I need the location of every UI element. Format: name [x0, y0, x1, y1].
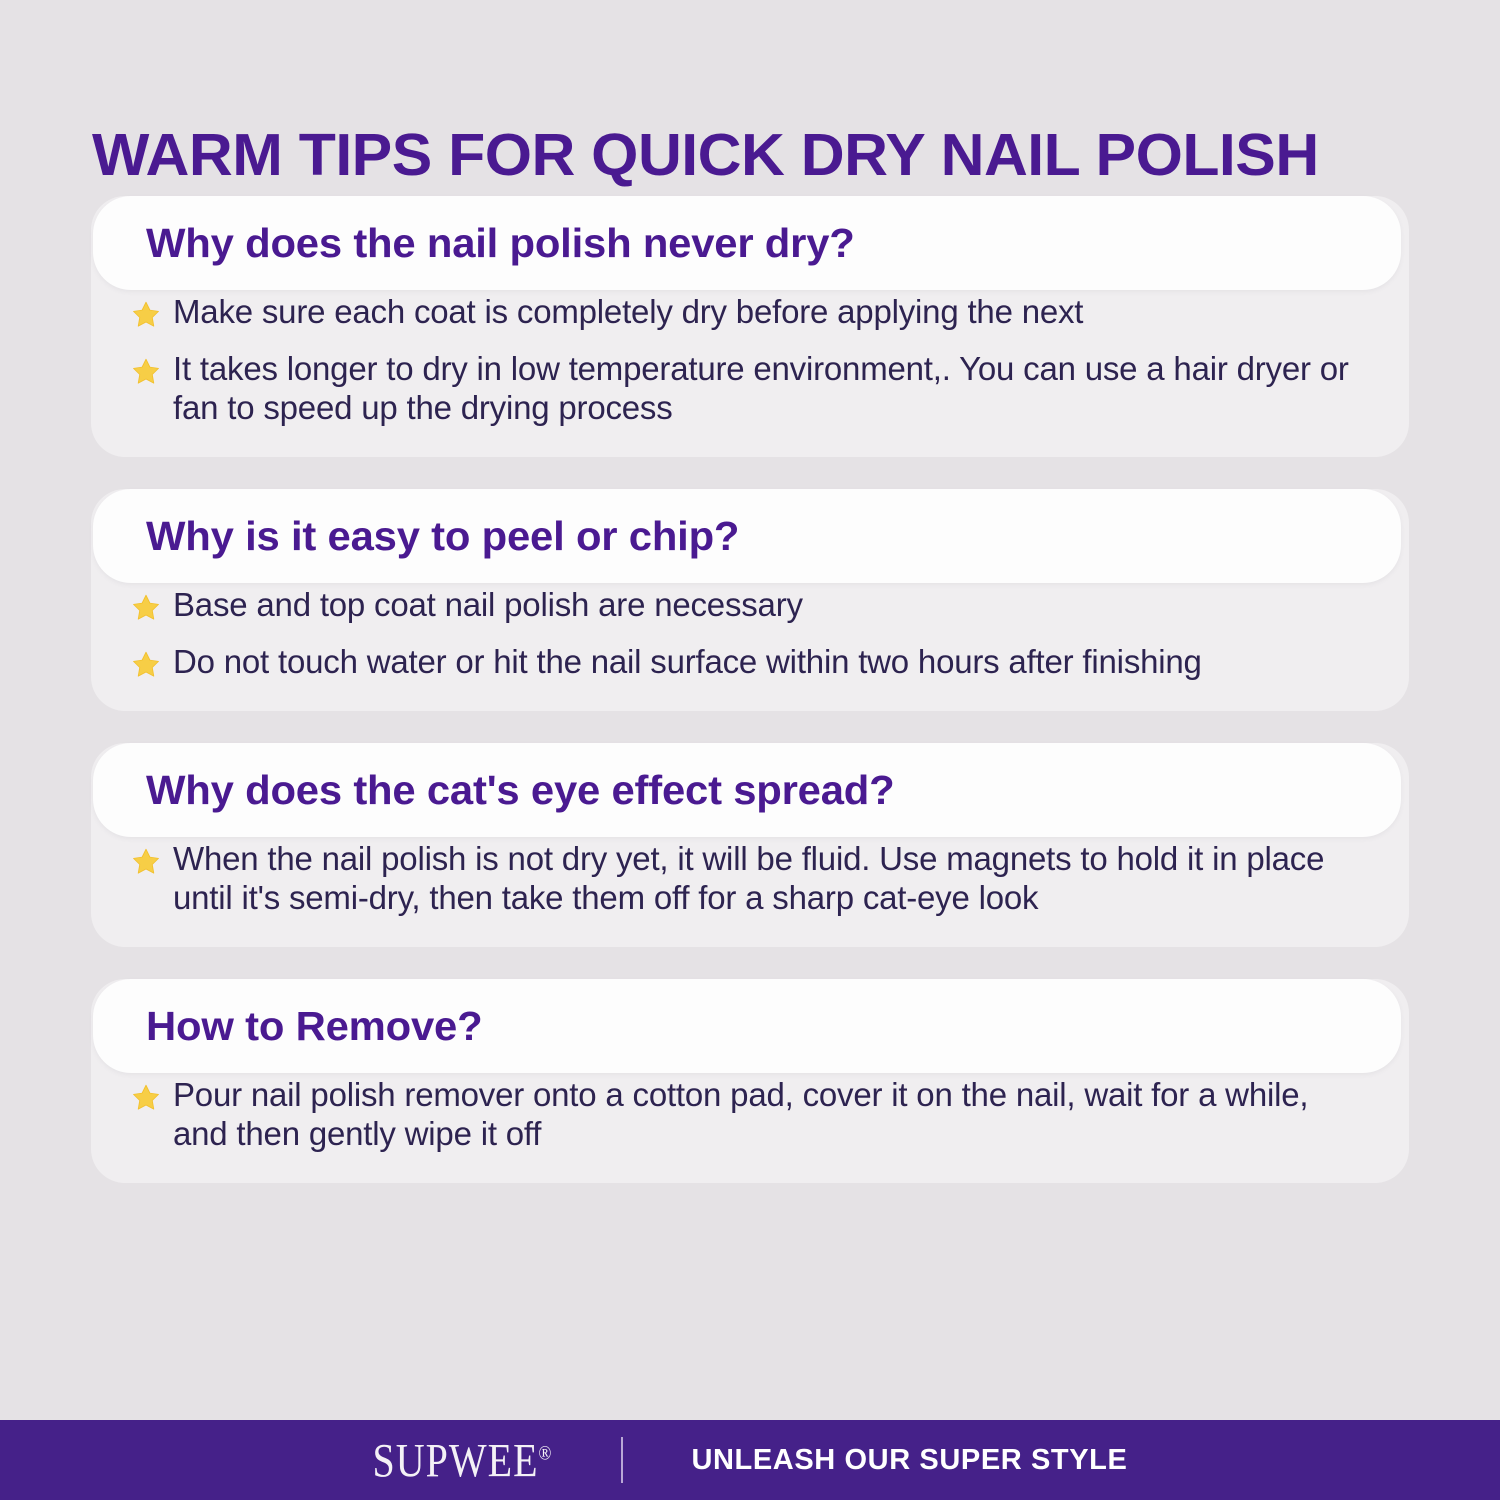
faq-card-heading: Why is it easy to peel or chip?	[93, 513, 739, 560]
faq-card-header: Why does the cat's eye effect spread?	[93, 743, 1401, 837]
faq-card-heading: How to Remove?	[93, 1003, 482, 1050]
faq-card-body: Why does the cat's eye effect spread? Wh…	[91, 743, 1409, 947]
faq-bullet-list: Pour nail polish remover onto a cotton p…	[91, 1075, 1409, 1153]
faq-card-header: Why is it easy to peel or chip?	[93, 489, 1401, 583]
list-item-text: Base and top coat nail polish are necess…	[173, 585, 803, 624]
faq-card: Why does the nail polish never dry? Make…	[91, 196, 1409, 457]
faq-card-heading: Why does the cat's eye effect spread?	[93, 767, 894, 814]
page-title: WARM TIPS FOR QUICK DRY NAIL POLISH	[92, 120, 1472, 190]
footer-divider	[621, 1437, 623, 1483]
list-item: Base and top coat nail polish are necess…	[131, 585, 1363, 624]
brand-logo: SUPWEE®	[373, 1432, 552, 1487]
faq-bullet-list: Make sure each coat is completely dry be…	[91, 292, 1409, 427]
faq-bullet-list: Base and top coat nail polish are necess…	[91, 585, 1409, 681]
registered-mark-icon: ®	[539, 1441, 552, 1463]
faq-card: How to Remove? Pour nail polish remover …	[91, 979, 1409, 1183]
faq-card-body: Why does the nail polish never dry? Make…	[91, 196, 1409, 457]
footer-bar: SUPWEE® UNLEASH OUR SUPER STYLE	[0, 1420, 1500, 1500]
list-item: Make sure each coat is completely dry be…	[131, 292, 1363, 331]
star-icon	[131, 847, 161, 877]
list-item-text: Make sure each coat is completely dry be…	[173, 292, 1083, 331]
faq-card: Why does the cat's eye effect spread? Wh…	[91, 743, 1409, 947]
infographic-page: WARM TIPS FOR QUICK DRY NAIL POLISH Why …	[0, 0, 1500, 1500]
faq-card-heading: Why does the nail polish never dry?	[93, 220, 855, 267]
star-icon	[131, 650, 161, 680]
star-icon	[131, 1083, 161, 1113]
faq-card-header: How to Remove?	[93, 979, 1401, 1073]
star-icon	[131, 593, 161, 623]
list-item: It takes longer to dry in low temperatur…	[131, 349, 1363, 427]
list-item-text: It takes longer to dry in low temperatur…	[173, 349, 1363, 427]
faq-card-header: Why does the nail polish never dry?	[93, 196, 1401, 290]
faq-card-body: How to Remove? Pour nail polish remover …	[91, 979, 1409, 1183]
list-item-text: Do not touch water or hit the nail surfa…	[173, 642, 1202, 681]
faq-card-list: Why does the nail polish never dry? Make…	[0, 196, 1500, 1215]
list-item: Pour nail polish remover onto a cotton p…	[131, 1075, 1363, 1153]
star-icon	[131, 357, 161, 387]
star-icon	[131, 300, 161, 330]
list-item-text: When the nail polish is not dry yet, it …	[173, 839, 1363, 917]
faq-card: Why is it easy to peel or chip? Base and…	[91, 489, 1409, 711]
footer-tagline: UNLEASH OUR SUPER STYLE	[691, 1444, 1127, 1477]
brand-name: SUPWEE	[373, 1433, 539, 1486]
list-item: When the nail polish is not dry yet, it …	[131, 839, 1363, 917]
faq-bullet-list: When the nail polish is not dry yet, it …	[91, 839, 1409, 917]
list-item-text: Pour nail polish remover onto a cotton p…	[173, 1075, 1363, 1153]
faq-card-body: Why is it easy to peel or chip? Base and…	[91, 489, 1409, 711]
list-item: Do not touch water or hit the nail surfa…	[131, 642, 1363, 681]
